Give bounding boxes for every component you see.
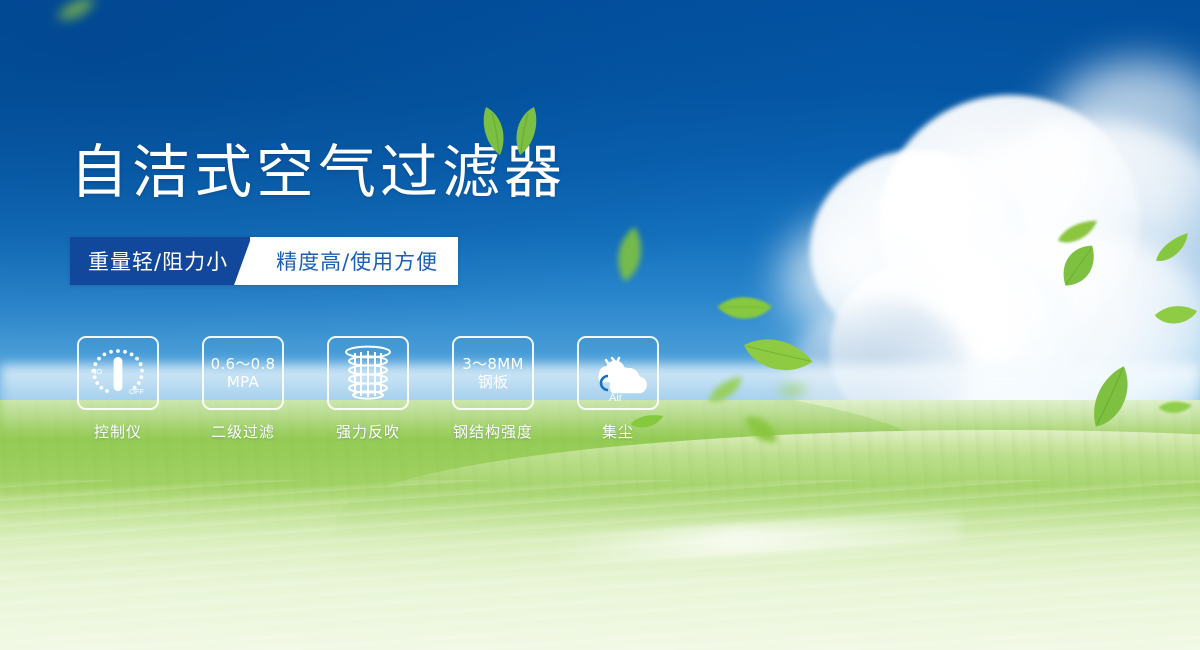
- dial-on-label: NO: [91, 367, 102, 376]
- hero-banner: 自洁式空气过滤器 重量轻/阻力小 精度高/使用方便: [0, 0, 1200, 650]
- feature-item-steel-strength[interactable]: 3～8MM 钢板 钢结构强度: [445, 336, 541, 442]
- pressure-unit: MPA: [211, 373, 276, 391]
- feature-item-controller[interactable]: NO OFF 控制仪: [70, 336, 166, 442]
- steel-plate-text-icon: 3～8MM 钢板: [462, 355, 523, 392]
- feature-caption: 强力反吹: [320, 421, 416, 442]
- pressure-value: 0.6～0.8: [211, 355, 276, 373]
- feature-caption: 控制仪: [70, 421, 166, 442]
- subtitle-right-label: 精度高/使用方便: [250, 237, 458, 285]
- feature-icon-box: NO OFF: [77, 336, 159, 410]
- feature-item-two-stage-filter[interactable]: 0.6～0.8 MPA 二级过滤: [195, 336, 291, 442]
- feature-list: NO OFF 控制仪 0.6～0.8 MPA 二级过滤: [70, 336, 666, 442]
- feature-caption: 钢结构强度: [445, 421, 541, 442]
- feature-icon-box: 0.6～0.8 MPA: [202, 336, 284, 410]
- two-leaf-sprout-icon: [470, 105, 550, 157]
- subtitle-bar: 重量轻/阻力小 精度高/使用方便: [70, 237, 458, 285]
- cloud-air-icon: Air: [586, 344, 650, 402]
- steel-material: 钢板: [462, 373, 523, 391]
- filter-cartridge-icon: [341, 345, 395, 401]
- feature-caption: 二级过滤: [195, 421, 291, 442]
- hero-content: 自洁式空气过滤器 重量轻/阻力小 精度高/使用方便: [0, 0, 1200, 650]
- subtitle-left-label: 重量轻/阻力小: [70, 237, 250, 285]
- pressure-text-icon: 0.6～0.8 MPA: [211, 355, 276, 392]
- steel-thickness: 3～8MM: [462, 355, 523, 373]
- title-block: 自洁式空气过滤器: [70, 143, 566, 201]
- feature-icon-box: 3～8MM 钢板: [452, 336, 534, 410]
- feature-item-strong-backblow[interactable]: 强力反吹: [320, 336, 416, 442]
- caption-leaf-icon: [630, 414, 664, 430]
- feature-icon-box: Air: [577, 336, 659, 410]
- dial-off-label: OFF: [129, 387, 144, 396]
- feature-item-dust-collection[interactable]: Air 集尘: [570, 336, 666, 442]
- control-dial-icon: NO OFF: [88, 345, 148, 401]
- cloud-air-label: Air: [609, 392, 623, 402]
- feature-icon-box: [327, 336, 409, 410]
